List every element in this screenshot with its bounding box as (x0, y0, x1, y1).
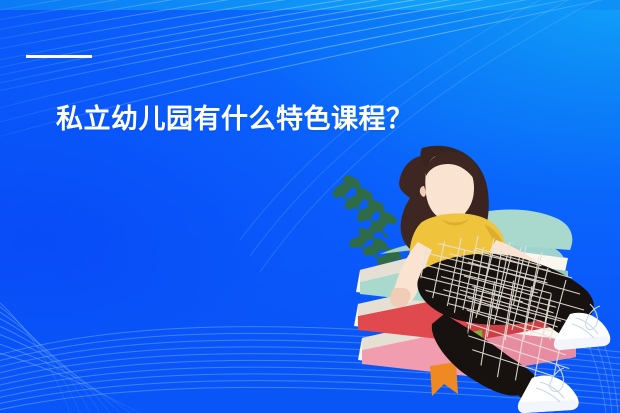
woman-figure (390, 146, 610, 413)
leaf-decoration (331, 174, 403, 272)
banner-root: 私立幼儿园有什么特色课程？ (0, 0, 620, 413)
page-title: 私立幼儿园有什么特色课程？ (56, 104, 414, 136)
bookmark-orange (430, 362, 458, 396)
illustration-woman-on-books (318, 138, 620, 413)
background-top-light-band (0, 0, 620, 10)
title-accent-rule (26, 55, 92, 58)
